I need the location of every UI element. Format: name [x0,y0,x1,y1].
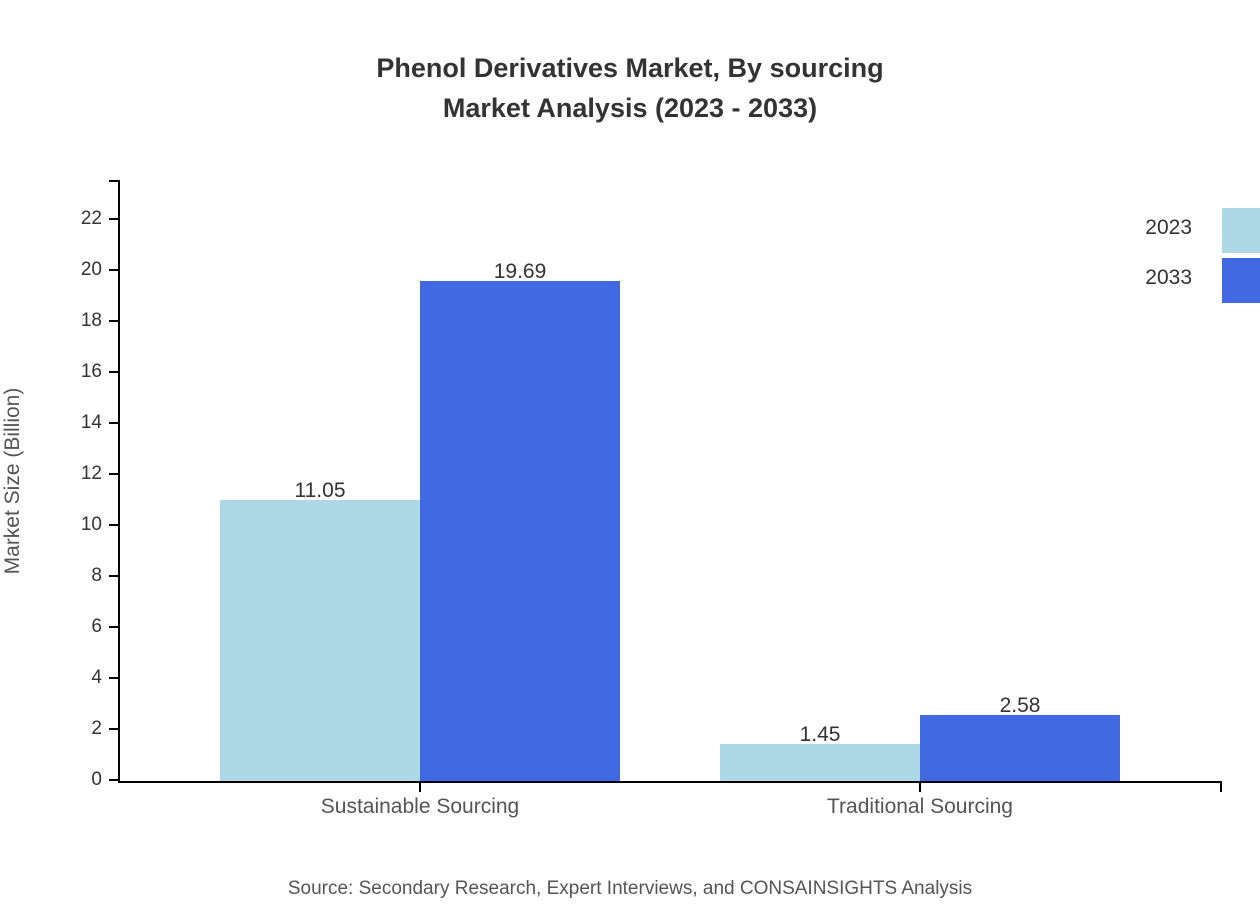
bar-value-2033-sustainable-sourcing: 19.69 [494,260,547,284]
bar-2033-traditional-sourcing[interactable] [920,715,1120,781]
legend-item-2033[interactable]: 2033 [1130,266,1260,312]
x-tick-label-traditional-sourcing: Traditional Sourcing [827,795,1013,819]
y-tick-label-6: 6 [91,616,102,638]
y-tick-8 [109,575,118,577]
chart-title-line-1: Phenol Derivatives Market, By sourcing [376,53,883,83]
bar-2023-sustainable-sourcing[interactable] [220,500,420,781]
x-tick-label-sustainable-sourcing: Sustainable Sourcing [321,795,519,819]
y-tick-label-18: 18 [81,310,102,332]
y-axis-top-cap [109,180,120,182]
plot-area: 0 2 4 6 8 10 12 14 16 18 20 22 11.05 19.… [120,181,1222,781]
y-tick-6 [109,626,118,628]
x-tick-sustainable-sourcing [419,781,421,792]
bar-value-2023-sustainable-sourcing: 11.05 [295,479,346,503]
legend-item-2023[interactable]: 2023 [1130,216,1260,262]
y-tick-label-22: 22 [81,208,102,230]
y-tick-label-8: 8 [91,565,102,587]
legend-swatch-2033 [1222,258,1260,303]
legend-label-2023: 2023 [1130,216,1192,240]
y-tick-label-16: 16 [81,361,102,383]
y-tick-label-0: 0 [91,769,102,791]
bar-2023-traditional-sourcing[interactable] [720,744,920,781]
bar-2033-sustainable-sourcing[interactable] [420,281,620,781]
y-tick-label-4: 4 [91,667,102,689]
x-axis-right-cap [1220,781,1222,792]
y-axis-title: Market Size (Billion) [1,388,25,575]
chart-title: Phenol Derivatives Market, By sourcing M… [0,48,1260,128]
x-axis-line [118,781,1222,783]
legend-label-2033: 2033 [1130,266,1192,290]
y-tick-label-2: 2 [91,718,102,740]
y-tick-10 [109,524,118,526]
y-tick-14 [109,422,118,424]
y-tick-4 [109,677,118,679]
y-tick-20 [109,269,118,271]
chart-title-line-2: Market Analysis (2023 - 2033) [0,88,1260,128]
legend-swatch-2023 [1222,208,1260,253]
y-tick-label-12: 12 [81,463,102,485]
bar-value-2023-traditional-sourcing: 1.45 [800,723,841,747]
y-tick-0 [109,779,118,781]
y-tick-2 [109,728,118,730]
chart-legend: 2023 2033 [1130,216,1260,312]
y-tick-label-10: 10 [81,514,102,536]
y-tick-22 [109,218,118,220]
bar-value-2033-traditional-sourcing: 2.58 [1000,694,1041,718]
y-tick-label-14: 14 [81,412,102,434]
y-axis-line [118,181,120,781]
y-tick-label-20: 20 [81,259,102,281]
x-tick-traditional-sourcing [919,781,921,792]
y-tick-12 [109,473,118,475]
source-note: Source: Secondary Research, Expert Inter… [0,878,1260,900]
chart-figure: Phenol Derivatives Market, By sourcing M… [0,0,1260,920]
y-tick-16 [109,371,118,373]
y-tick-18 [109,320,118,322]
